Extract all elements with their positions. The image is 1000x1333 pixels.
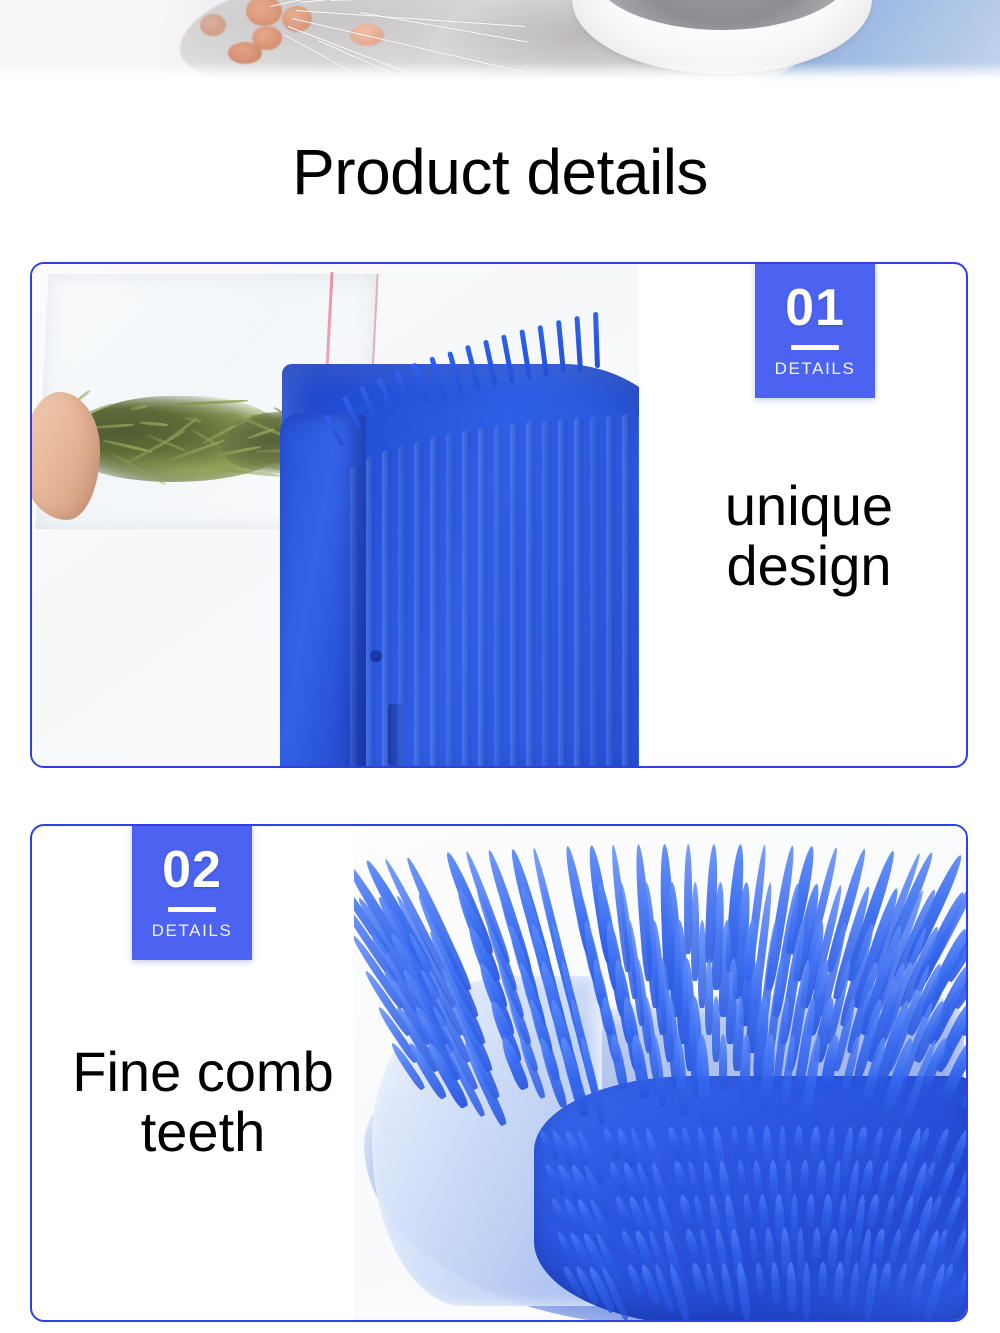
detail-badge-01: 01 DETAILS <box>755 262 875 398</box>
badge-divider <box>168 907 216 912</box>
cat-paw-pad <box>228 42 262 64</box>
comb-screw-hole <box>370 650 382 662</box>
detail-caption-01: unique design <box>652 476 966 596</box>
detail-caption-02: Fine comb teeth <box>38 1042 368 1162</box>
detail-badge-02: 02 DETAILS <box>132 824 252 960</box>
page-title: Product details <box>0 140 1000 204</box>
detail-panel-01: 01 DETAILS unique design <box>30 262 968 768</box>
badge-divider <box>791 345 839 350</box>
detail-panel-02: 02 DETAILS Fine comb teeth <box>30 824 968 1322</box>
product-details-page: Product details 01 DET <box>0 0 1000 1333</box>
cat-paw-pad <box>200 14 226 36</box>
hero-bottom-fade <box>0 62 1000 84</box>
badge-label: DETAILS <box>775 359 856 379</box>
badge-number: 01 <box>785 282 845 334</box>
badge-label: DETAILS <box>152 921 233 941</box>
detail-photo-02 <box>354 826 966 1320</box>
comb-mount-slot <box>388 704 404 766</box>
detail-photo-01 <box>32 264 639 766</box>
badge-number: 02 <box>162 844 222 896</box>
hero-banner <box>0 0 1000 84</box>
